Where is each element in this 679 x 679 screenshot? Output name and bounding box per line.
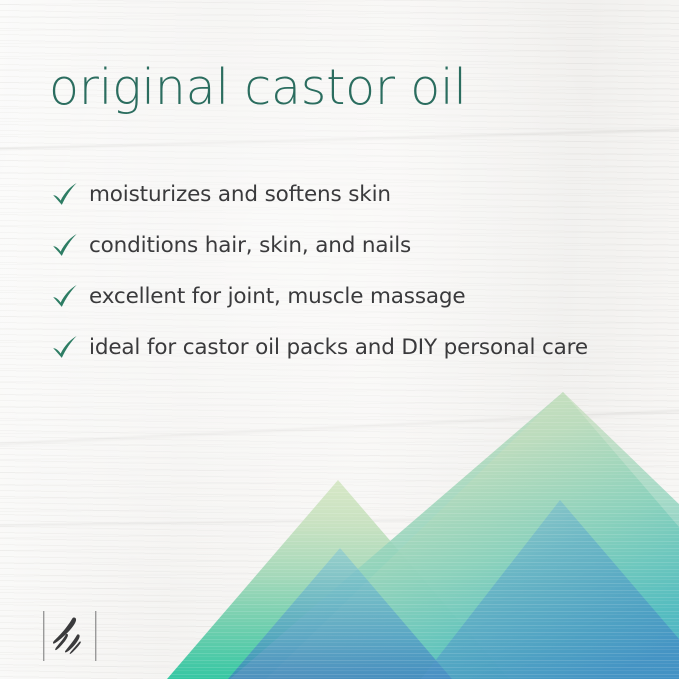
list-item: ideal for castor oil packs and DIY perso… [50, 322, 650, 373]
brand-logo [42, 609, 98, 663]
artwork-grain-overlay [0, 380, 679, 679]
page-title: original castor oil [49, 61, 467, 115]
list-item-label: conditions hair, skin, and nails [89, 233, 411, 258]
check-icon [50, 231, 80, 261]
list-item-label: moisturizes and softens skin [89, 182, 391, 207]
benefits-list: moisturizes and softens skin conditions … [50, 169, 650, 373]
check-icon [50, 180, 80, 210]
brand-monogram-h-icon [53, 617, 81, 653]
brand-rule-right [95, 611, 96, 661]
list-item-label: ideal for castor oil packs and DIY perso… [89, 335, 588, 360]
list-item-label: excellent for joint, muscle massage [89, 284, 465, 309]
product-graphic-canvas: original castor oil moisturizes and soft… [0, 0, 679, 679]
brand-rule-left [43, 611, 44, 661]
check-icon [50, 282, 80, 312]
list-item: excellent for joint, muscle massage [50, 271, 650, 322]
list-item: moisturizes and softens skin [50, 169, 650, 220]
list-item: conditions hair, skin, and nails [50, 220, 650, 271]
check-icon [50, 333, 80, 363]
